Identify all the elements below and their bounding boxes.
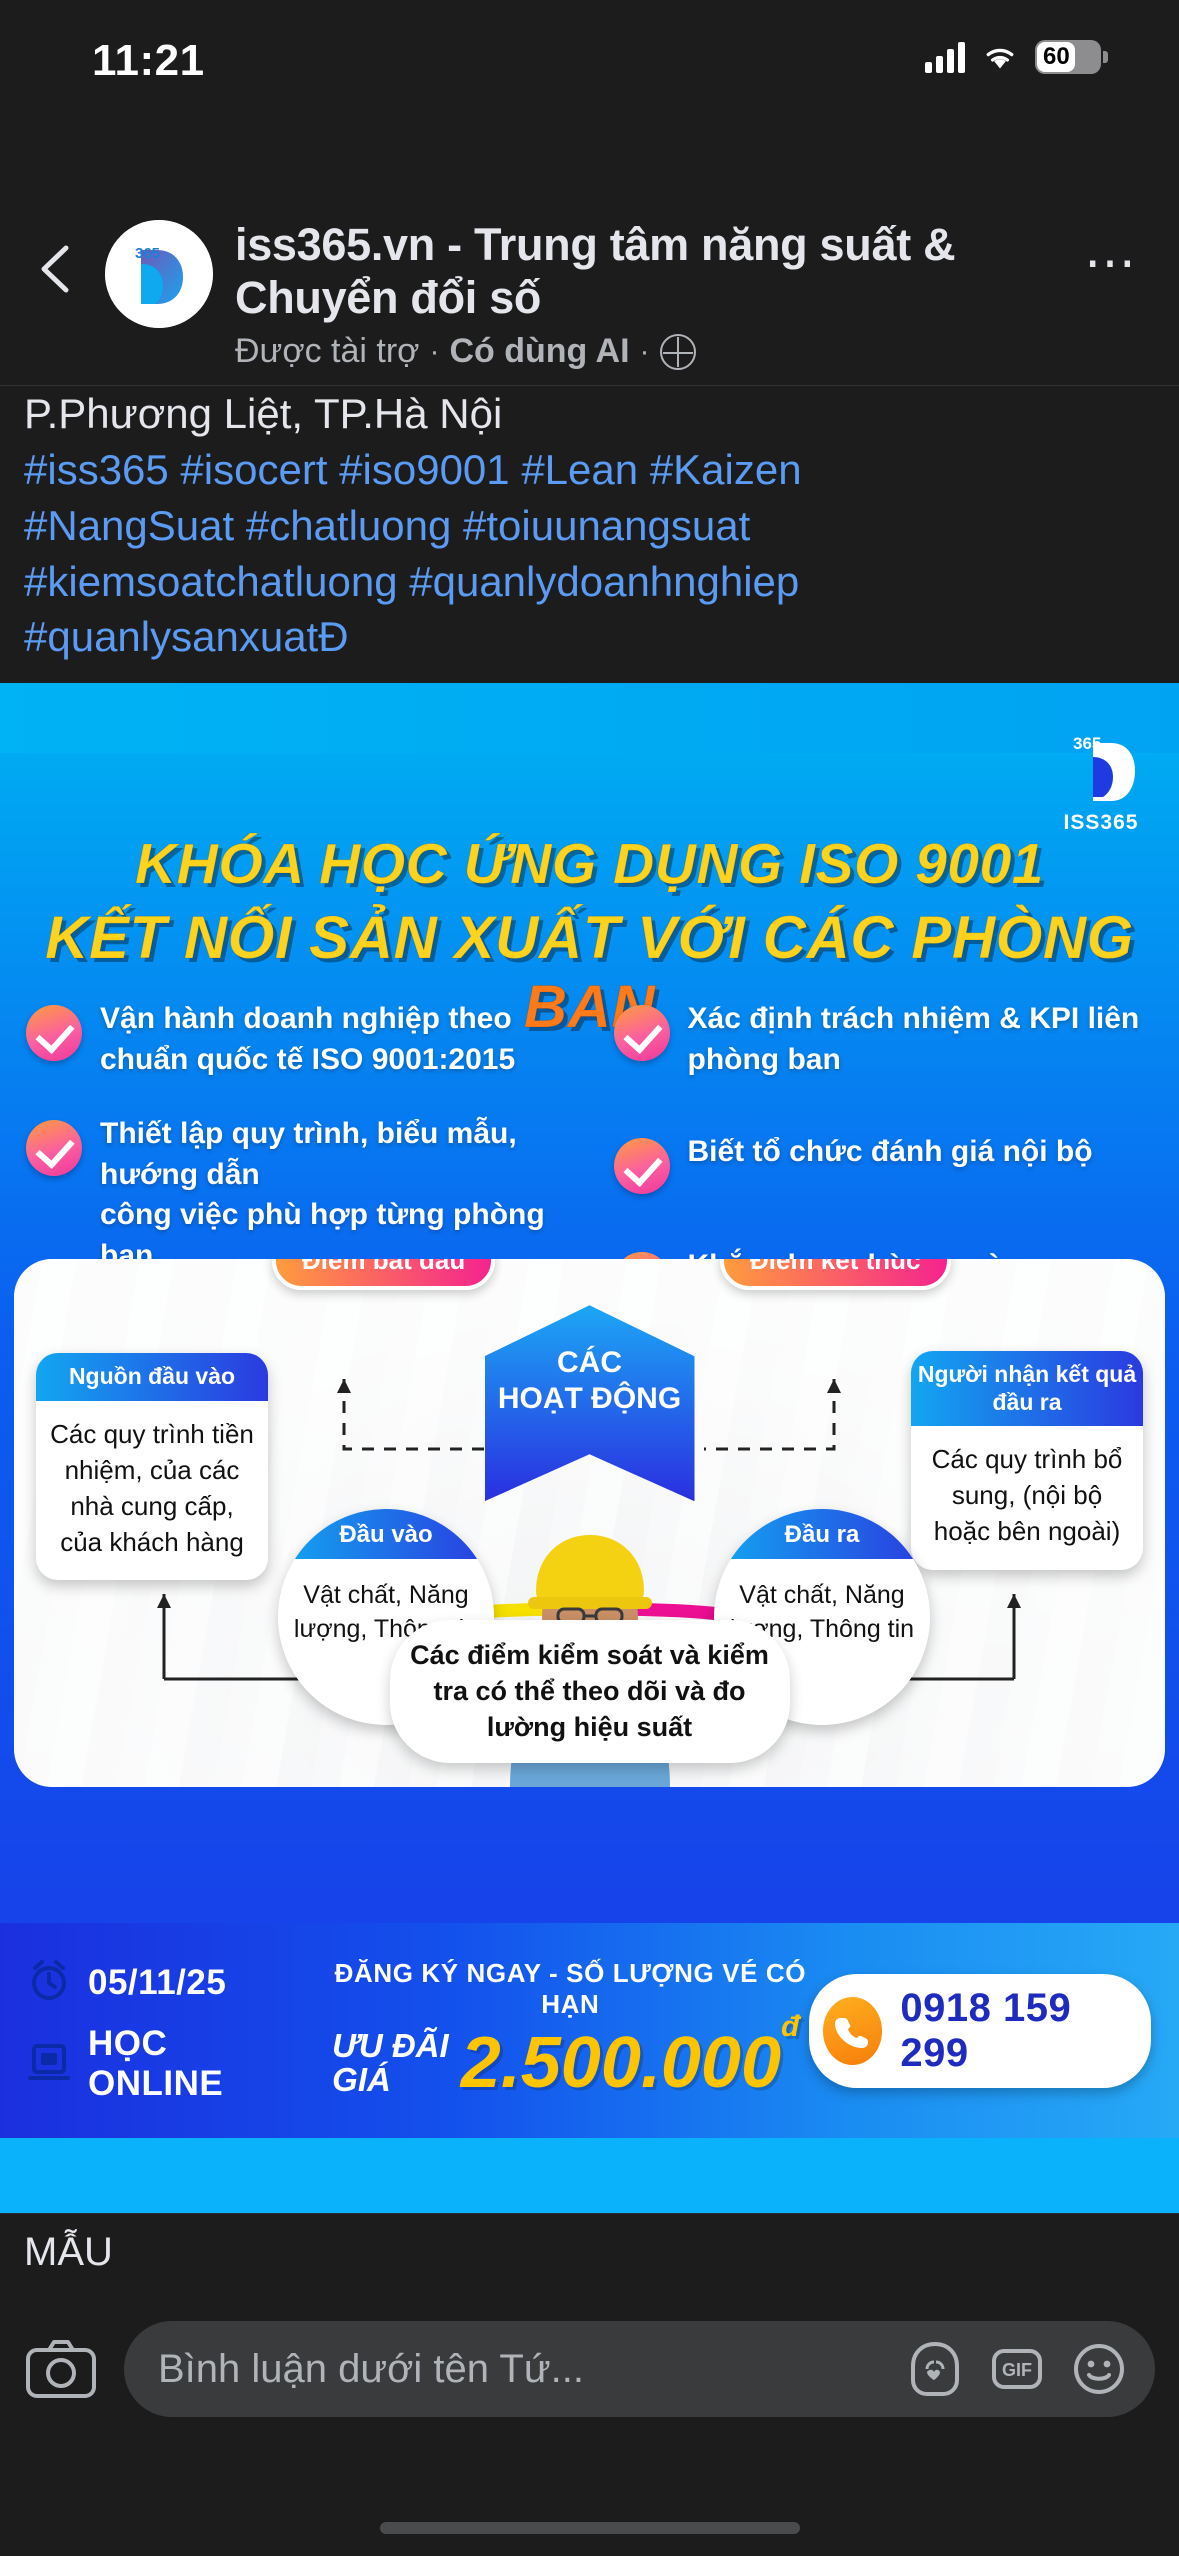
check-circle-icon: [614, 1005, 670, 1061]
comment-input-placeholder[interactable]: Bình luận dưới tên Tứ...: [158, 2347, 883, 2392]
post-hashtags-line-2[interactable]: #NangSuat #chatluong #toiuunangsuat: [24, 498, 1155, 554]
ad-top-strip: [0, 683, 1179, 753]
cta-mode: HỌC ONLINE: [88, 2024, 280, 2104]
cta-price-value: 2.500.000: [461, 2023, 781, 2103]
home-indicator: [380, 2522, 800, 2534]
post-hashtags-line-4[interactable]: #quanlysanxuatĐ: [24, 609, 1155, 665]
status-bar-time: 11:21: [92, 36, 205, 86]
post-hashtags-line-3[interactable]: #kiemsoatchatluong #quanlydoanhnghiep: [24, 554, 1155, 610]
list-item: Vận hành doanh nghiệp theo chuẩn quốc tế…: [26, 999, 582, 1080]
phone-call-icon: [823, 1997, 883, 2065]
ad-headline-line-1: KHÓA HỌC ỨNG DỤNG ISO 9001: [0, 831, 1179, 897]
camera-icon[interactable]: [24, 2338, 98, 2400]
globe-icon: [660, 334, 696, 370]
emoji-icon[interactable]: [1069, 2339, 1129, 2399]
post-hashtags-line-1[interactable]: #iss365 #isocert #iso9001 #Lean #Kaizen: [24, 442, 1155, 498]
subtitle-separator-2: ·: [640, 335, 650, 369]
card-header: Người nhận kết quả đầu ra: [911, 1351, 1143, 1426]
battery-level: 60: [1043, 43, 1070, 71]
cta-offer-labels: ƯU ĐÃI GIÁ: [332, 2029, 449, 2096]
cta-price-row: ƯU ĐÃI GIÁ 2.500.000đ: [332, 2022, 808, 2104]
ad-bottom-strip: [0, 2138, 1179, 2213]
online-learning-icon: [26, 2039, 72, 2090]
cta-phone-number: 0918 159 299: [900, 1986, 1121, 2076]
benefit-text: Thiết lập quy trình, biểu mẫu, hướng dẫn…: [100, 1114, 582, 1276]
subtitle-separator-1: ·: [429, 335, 439, 369]
process-diagram: Điểm bắt đầu Điểm kết thúc CÁC HOẠT ĐỘNG…: [14, 1259, 1165, 1787]
center-line-2: HOẠT ĐỘNG: [498, 1381, 681, 1416]
list-item: Thiết lập quy trình, biểu mẫu, hướng dẫn…: [26, 1114, 582, 1276]
status-bar: 11:21 60: [0, 0, 1179, 120]
post-header: 365 iss365.vn - Trung tâm năng suất & Ch…: [0, 120, 1179, 385]
post-subtitle: Được tài trợ · Có dùng AI ·: [235, 332, 1029, 371]
cta-date-row: 05/11/25: [26, 1957, 280, 2008]
back-chevron-icon[interactable]: [26, 238, 88, 300]
sponsored-label: Được tài trợ: [235, 332, 419, 371]
diagram-end-pill: Điểm kết thúc: [720, 1259, 951, 1290]
alarm-clock-icon: [26, 1957, 72, 2008]
benefit-text: Vận hành doanh nghiệp theo chuẩn quốc tế…: [100, 999, 515, 1080]
post-text: P.Phương Liệt, TP.Hà Nội #iss365 #isocer…: [0, 385, 1179, 683]
cta-phone-button[interactable]: 0918 159 299: [809, 1974, 1151, 2088]
diagram-control-points-box: Các điểm kiểm soát và kiểm tra có thể th…: [390, 1620, 790, 1763]
list-item: Biết tổ chức đánh giá nội bộ: [614, 1132, 1172, 1194]
gif-icon[interactable]: GIF: [987, 2339, 1047, 2399]
diagram-start-pill: Điểm bắt đầu: [272, 1259, 495, 1290]
ad-headline-line-2-main: KẾT NỐI SẢN XUẤT VỚI CÁC PHÒNG: [45, 904, 1134, 971]
ad-brand-logo: 365 ISS365: [1049, 731, 1153, 835]
page-title[interactable]: iss365.vn - Trung tâm năng suất & Chuyển…: [235, 218, 1029, 324]
diagram-input-source-card: Nguồn đầu vào Các quy trình tiền nhiệm, …: [36, 1353, 268, 1580]
iss365-leaf-mark-icon: 365: [1063, 731, 1139, 809]
cta-currency: đ: [781, 2010, 799, 2043]
cta-mode-row: HỌC ONLINE: [26, 2024, 280, 2104]
list-item: Xác định trách nhiệm & KPI liên phòng ba…: [614, 999, 1172, 1080]
comment-composer: Bình luận dưới tên Tứ... GIF: [0, 2289, 1179, 2439]
comment-input-box[interactable]: Bình luận dưới tên Tứ... GIF: [124, 2321, 1155, 2417]
avatar-sticker-icon[interactable]: [905, 2339, 965, 2399]
ai-label: Có dùng AI: [449, 332, 629, 371]
wifi-icon: [981, 42, 1019, 72]
svg-text:365: 365: [1073, 734, 1101, 753]
status-bar-indicators: 60: [925, 40, 1101, 74]
header-text-block: iss365.vn - Trung tâm năng suất & Chuyển…: [235, 218, 1029, 371]
check-circle-icon: [26, 1120, 82, 1176]
post-location: P.Phương Liệt, TP.Hà Nội: [24, 386, 1155, 442]
cta-offer-line-1: ƯU ĐÃI: [332, 2029, 449, 2063]
battery-icon: 60: [1035, 40, 1101, 74]
svg-text:365: 365: [135, 245, 160, 262]
avatar[interactable]: 365: [105, 220, 213, 328]
cta-date: 05/11/25: [88, 1963, 226, 2003]
cta-schedule: 05/11/25 HỌC ONLINE: [26, 1957, 280, 2104]
ad-creative-image[interactable]: 365 ISS365 KHÓA HỌC ỨNG DỤNG ISO 9001 KẾ…: [0, 683, 1179, 2138]
check-circle-icon: [614, 1138, 670, 1194]
cta-price: 2.500.000đ: [461, 2022, 800, 2104]
card-header: Nguồn đầu vào: [36, 1353, 268, 1401]
comments-section-label: MẪU: [0, 2213, 1179, 2289]
cellular-signal-icon: [925, 41, 965, 73]
cta-offer: ĐĂNG KÝ NGAY - SỐ LƯỢNG VÉ CÓ HẠN ƯU ĐÃI…: [332, 1958, 808, 2104]
benefit-text: Biết tổ chức đánh giá nội bộ: [688, 1132, 1093, 1173]
cta-tagline: ĐĂNG KÝ NGAY - SỐ LƯỢNG VÉ CÓ HẠN: [332, 1958, 808, 2020]
benefit-text: Xác định trách nhiệm & KPI liên phòng ba…: [688, 999, 1140, 1080]
more-options-icon[interactable]: ⋯: [1084, 253, 1139, 274]
ad-cta-bar: 05/11/25 HỌC ONLINE ĐĂNG KÝ NGAY - SỐ LƯ…: [0, 1923, 1179, 2138]
cta-offer-line-2: GIÁ: [332, 2063, 449, 2097]
center-line-1: CÁC: [557, 1345, 622, 1380]
diagram-output-receiver-card: Người nhận kết quả đầu ra Các quy trình …: [911, 1351, 1143, 1570]
card-body: Các quy trình tiền nhiệm, của các nhà cu…: [36, 1401, 268, 1581]
check-circle-icon: [26, 1005, 82, 1061]
card-body: Các quy trình bổ sung, (nội bộ hoặc bên …: [911, 1426, 1143, 1570]
svg-text:GIF: GIF: [1002, 2360, 1032, 2380]
